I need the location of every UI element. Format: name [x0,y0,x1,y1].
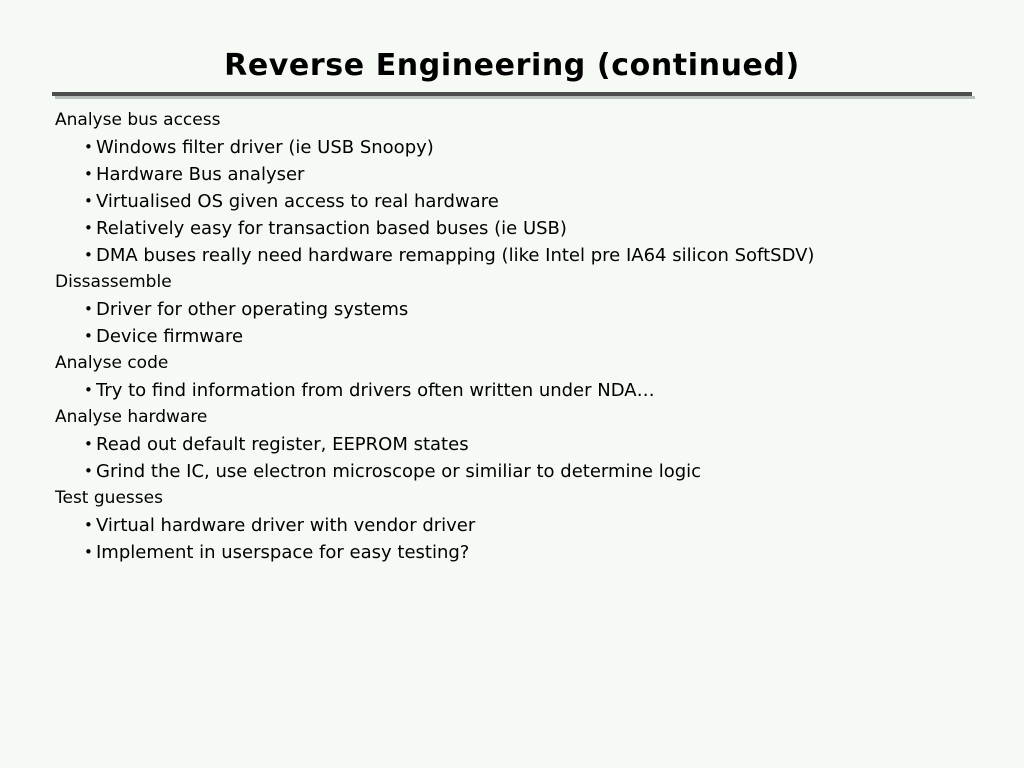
outline-bullet-label: Virtualised OS given access to real hard… [96,188,499,215]
title-divider-rule-shadow [55,96,975,99]
outline-bullet-label: Hardware Bus analyser [96,161,304,188]
outline-bullet-item: •Driver for other operating systems [0,296,1024,323]
bullet-icon: • [84,161,96,188]
bullet-icon: • [84,296,96,323]
bullet-icon: • [84,134,96,161]
bullet-icon: • [84,215,96,242]
outline-heading: Analyse bus access [0,107,1024,134]
outline-bullet-item: •Read out default register, EEPROM state… [0,431,1024,458]
bullet-icon: • [84,377,96,404]
outline-bullet-item: •Device firmware [0,323,1024,350]
bullet-icon: • [84,539,96,566]
bullet-icon: • [84,458,96,485]
outline-bullet-item: •Relatively easy for transaction based b… [0,215,1024,242]
outline-bullet-item: •Try to find information from drivers of… [0,377,1024,404]
outline-bullet-label: Virtual hardware driver with vendor driv… [96,512,475,539]
outline-heading: Dissassemble [0,269,1024,296]
bullet-icon: • [84,242,96,269]
outline-bullet-item: •DMA buses really need hardware remappin… [0,242,1024,269]
outline-bullet-label: Grind the IC, use electron microscope or… [96,458,701,485]
slide-body-outline: Analyse bus access•Windows filter driver… [0,107,1024,566]
outline-bullet-item: •Hardware Bus analyser [0,161,1024,188]
outline-bullet-label: Windows filter driver (ie USB Snoopy) [96,134,434,161]
outline-heading: Analyse hardware [0,404,1024,431]
outline-bullet-item: •Windows filter driver (ie USB Snoopy) [0,134,1024,161]
outline-bullet-label: Try to find information from drivers oft… [96,377,655,404]
outline-bullet-label: Read out default register, EEPROM states [96,431,469,458]
presentation-slide: Reverse Engineering (continued) Analyse … [0,0,1024,768]
bullet-icon: • [84,323,96,350]
slide-title: Reverse Engineering (continued) [0,47,1024,85]
outline-heading: Analyse code [0,350,1024,377]
outline-bullet-item: •Implement in userspace for easy testing… [0,539,1024,566]
outline-bullet-label: Driver for other operating systems [96,296,408,323]
bullet-icon: • [84,512,96,539]
outline-bullet-label: Implement in userspace for easy testing? [96,539,469,566]
outline-bullet-label: Device firmware [96,323,243,350]
bullet-icon: • [84,188,96,215]
outline-bullet-label: DMA buses really need hardware remapping… [96,242,814,269]
outline-heading: Test guesses [0,485,1024,512]
outline-bullet-item: •Grind the IC, use electron microscope o… [0,458,1024,485]
outline-bullet-item: •Virtual hardware driver with vendor dri… [0,512,1024,539]
bullet-icon: • [84,431,96,458]
outline-bullet-item: •Virtualised OS given access to real har… [0,188,1024,215]
outline-bullet-label: Relatively easy for transaction based bu… [96,215,567,242]
